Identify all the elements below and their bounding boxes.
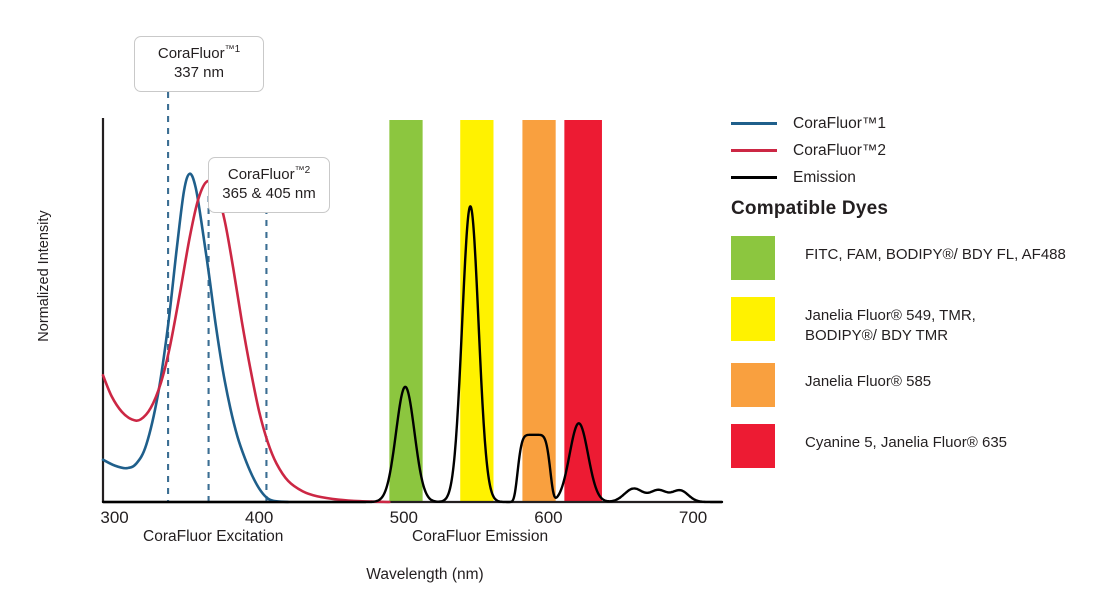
y-axis-title: Normalized Intensity: [36, 196, 52, 356]
spectra-figure: CoraFluor™1 337 nm CoraFluor™2 365 & 405…: [0, 0, 1110, 612]
series-legend: CoraFluor™1CoraFluor™2Emission: [731, 110, 1071, 191]
legend-item-label: CoraFluor™2: [793, 142, 886, 160]
callout-cf1-line2: 337 nm: [147, 64, 251, 83]
x-axis-title: Wavelength (nm): [300, 566, 550, 584]
trademark-symbol: ™2: [295, 165, 311, 176]
x-tick-500: 500: [364, 508, 444, 528]
dye-label-line2: BODIPY®/ BDY TMR: [805, 326, 976, 346]
dye-label-line1: Janelia Fluor® 549, TMR,: [805, 307, 976, 324]
emission-bands-layer: [389, 120, 602, 502]
dye-label-line1: FITC, FAM, BODIPY®/ BDY FL, AF488: [805, 246, 1066, 263]
x-tick-700: 700: [653, 508, 733, 528]
x-section-label-corafluor-excitation: CoraFluor Excitation: [143, 528, 283, 546]
x-section-label-corafluor-emission: CoraFluor Emission: [412, 528, 548, 546]
compatible-dyes-title: Compatible Dyes: [731, 198, 1081, 220]
trademark-symbol: ™1: [225, 44, 241, 55]
compatible-dyes-list: FITC, FAM, BODIPY®/ BDY FL, AF488Janelia…: [731, 236, 1081, 468]
callout-corafluor-1: CoraFluor™1 337 nm: [134, 36, 264, 92]
legend-item-2: Emission: [731, 164, 1071, 191]
red-band: [564, 120, 602, 502]
x-tick-400: 400: [219, 508, 299, 528]
x-tick-600: 600: [508, 508, 588, 528]
dye-color-swatch: [731, 363, 775, 407]
dye-label: Janelia Fluor® 549, TMR,BODIPY®/ BDY TMR: [805, 297, 976, 346]
dye-row-3: Cyanine 5, Janelia Fluor® 635: [731, 424, 1081, 468]
legend-line-swatch: [731, 149, 777, 152]
dye-label-line1: Janelia Fluor® 585: [805, 373, 931, 390]
dye-color-swatch: [731, 236, 775, 280]
legend-item-1: CoraFluor™2: [731, 137, 1071, 164]
callout-cf2-line1: CoraFluor™2: [221, 165, 317, 185]
callout-cf2-line2: 365 & 405 nm: [221, 185, 317, 204]
legend-line-swatch: [731, 176, 777, 179]
dye-label: Janelia Fluor® 585: [805, 363, 931, 392]
compatible-dyes-panel: Compatible Dyes FITC, FAM, BODIPY®/ BDY …: [731, 198, 1081, 485]
dye-label: Cyanine 5, Janelia Fluor® 635: [805, 424, 1007, 453]
curve-excitation-365nm: [103, 181, 389, 502]
legend-item-label: CoraFluor™1: [793, 115, 886, 133]
dye-row-2: Janelia Fluor® 585: [731, 363, 1081, 407]
callout-corafluor-2: CoraFluor™2 365 & 405 nm: [208, 157, 330, 213]
x-tick-300: 300: [75, 508, 155, 528]
excitation-marker-lines: [168, 92, 266, 502]
dye-row-1: Janelia Fluor® 549, TMR,BODIPY®/ BDY TMR: [731, 297, 1081, 346]
curve-excitation-350nm: [103, 174, 288, 502]
legend-item-label: Emission: [793, 169, 856, 187]
callout-cf1-line1: CoraFluor™1: [147, 44, 251, 64]
dye-label-line1: Cyanine 5, Janelia Fluor® 635: [805, 434, 1007, 451]
dye-label: FITC, FAM, BODIPY®/ BDY FL, AF488: [805, 236, 1066, 265]
dye-color-swatch: [731, 297, 775, 341]
legend-item-0: CoraFluor™1: [731, 110, 1071, 137]
orange-band: [522, 120, 555, 502]
dye-color-swatch: [731, 424, 775, 468]
legend-line-swatch: [731, 122, 777, 125]
dye-row-0: FITC, FAM, BODIPY®/ BDY FL, AF488: [731, 236, 1081, 280]
